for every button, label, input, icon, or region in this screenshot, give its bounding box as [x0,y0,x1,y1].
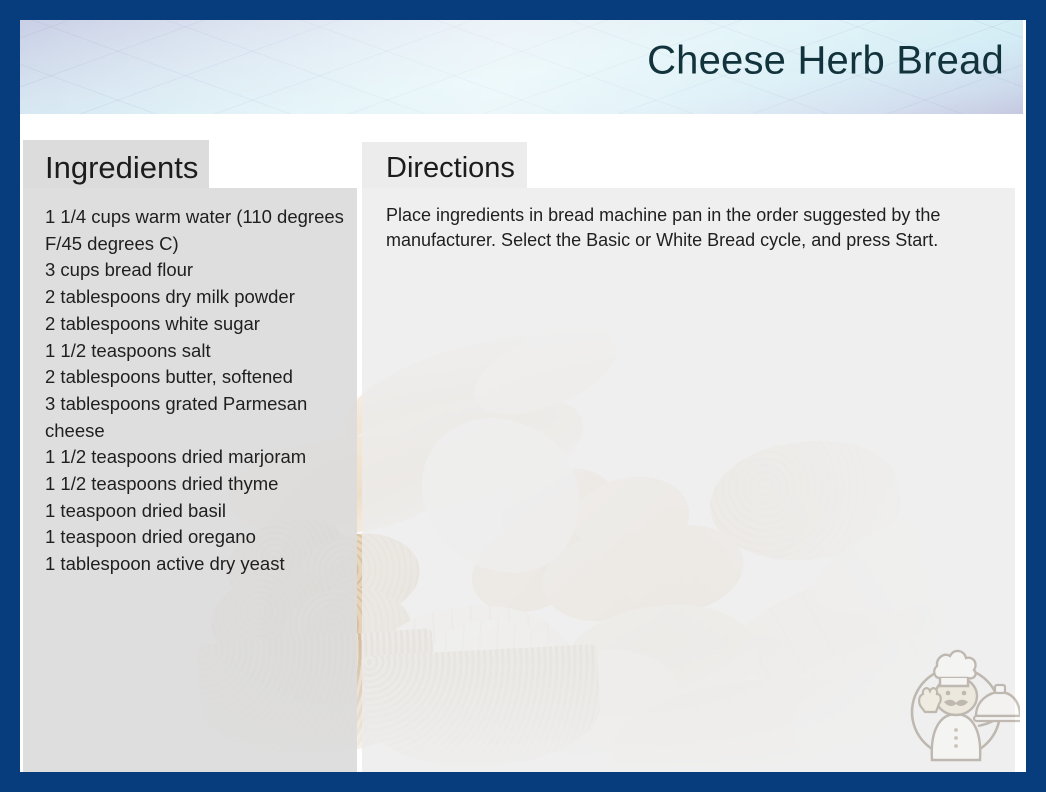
ingredients-heading: Ingredients [45,150,198,186]
list-item: 1 teaspoon dried oregano [45,524,345,551]
list-item: 1 1/2 teaspoons dried marjoram [45,444,345,471]
recipe-page: Cheese Herb Bread Ingredients 1 1/4 cups… [20,20,1026,772]
list-item: 1 1/2 teaspoons dried thyme [45,471,345,498]
chef-with-cloche-logo [892,638,1020,766]
list-item: 2 tablespoons white sugar [45,311,345,338]
list-item: 1 1/4 cups warm water (110 degrees F/45 … [45,204,345,257]
directions-heading: Directions [386,152,515,185]
list-item: 3 cups bread flour [45,257,345,284]
list-item: 2 tablespoons butter, softened [45,364,345,391]
list-item: 2 tablespoons dry milk powder [45,284,345,311]
ingredients-list: 1 1/4 cups warm water (110 degrees F/45 … [45,204,345,578]
list-item: 1 tablespoon active dry yeast [45,551,345,578]
list-item: 1 1/2 teaspoons salt [45,338,345,365]
list-item: 3 tablespoons grated Parmesan cheese [45,391,345,444]
page-border: Cheese Herb Bread Ingredients 1 1/4 cups… [0,0,1046,792]
page-title: Cheese Herb Bread [647,39,1004,84]
directions-body: Place ingredients in bread machine pan i… [386,203,1026,253]
list-item: 1 teaspoon dried basil [45,498,345,525]
